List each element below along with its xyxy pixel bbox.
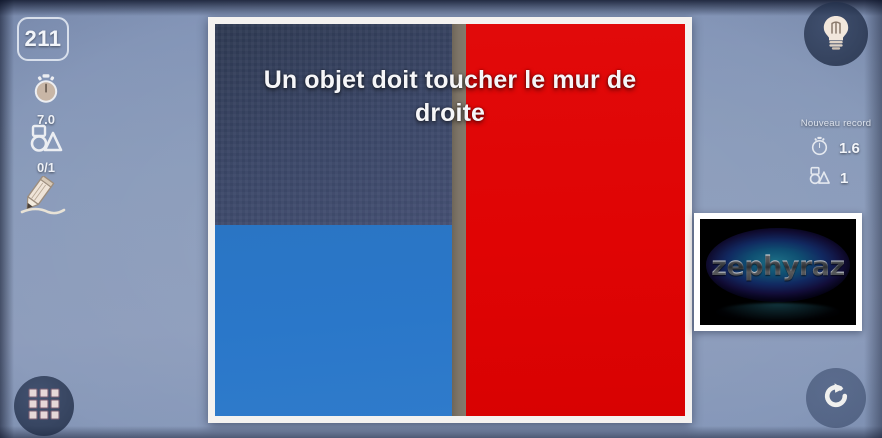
game-board[interactable]: Un objet doit toucher le mur de droite (215, 24, 685, 416)
vignette-right (864, 0, 882, 438)
record-panel: Nouveau record 1.6 (790, 118, 882, 195)
record-shapes-row: 1 (790, 166, 882, 191)
game-board-frame: Un objet doit toucher le mur de droite (208, 17, 692, 423)
zephyraz-logo-card: zephyraz (694, 213, 862, 331)
stopwatch-icon (809, 135, 830, 162)
stopwatch-icon (29, 93, 63, 110)
grid-icon-button[interactable] (14, 376, 74, 436)
vignette-bottom (0, 426, 882, 438)
record-time-row: 1.6 (790, 135, 882, 162)
pencil-icon (14, 207, 70, 224)
lightbulb-icon (819, 14, 853, 55)
logo-reflection (716, 303, 840, 321)
game-screen: 211 7.0 (0, 0, 882, 438)
record-label: Nouveau record (790, 118, 882, 129)
vignette-top (0, 0, 882, 16)
board-region-blue (215, 225, 452, 416)
logo-wordmark: zephyraz (700, 251, 856, 282)
level-badge: 211 (17, 17, 69, 61)
restart-button[interactable] (806, 368, 866, 428)
shapes-icon (28, 141, 64, 158)
level-number: 211 (25, 26, 62, 52)
grid-icon (27, 387, 61, 426)
logo-inner: zephyraz (700, 219, 856, 325)
hint-button[interactable] (804, 2, 868, 66)
timer-stat: 7.0 (0, 72, 92, 127)
refresh-icon (818, 378, 854, 419)
board-objective-text: Un objet doit toucher le mur de droite (239, 64, 662, 130)
shapes-stat: 0/1 (0, 124, 92, 175)
draw-tool-button[interactable] (14, 176, 70, 225)
record-shapes-value: 1 (840, 170, 864, 187)
left-hud: 211 7.0 (0, 0, 92, 438)
shapes-value: 0/1 (0, 160, 92, 175)
record-time-value: 1.6 (839, 140, 863, 157)
shapes-icon (808, 166, 831, 191)
